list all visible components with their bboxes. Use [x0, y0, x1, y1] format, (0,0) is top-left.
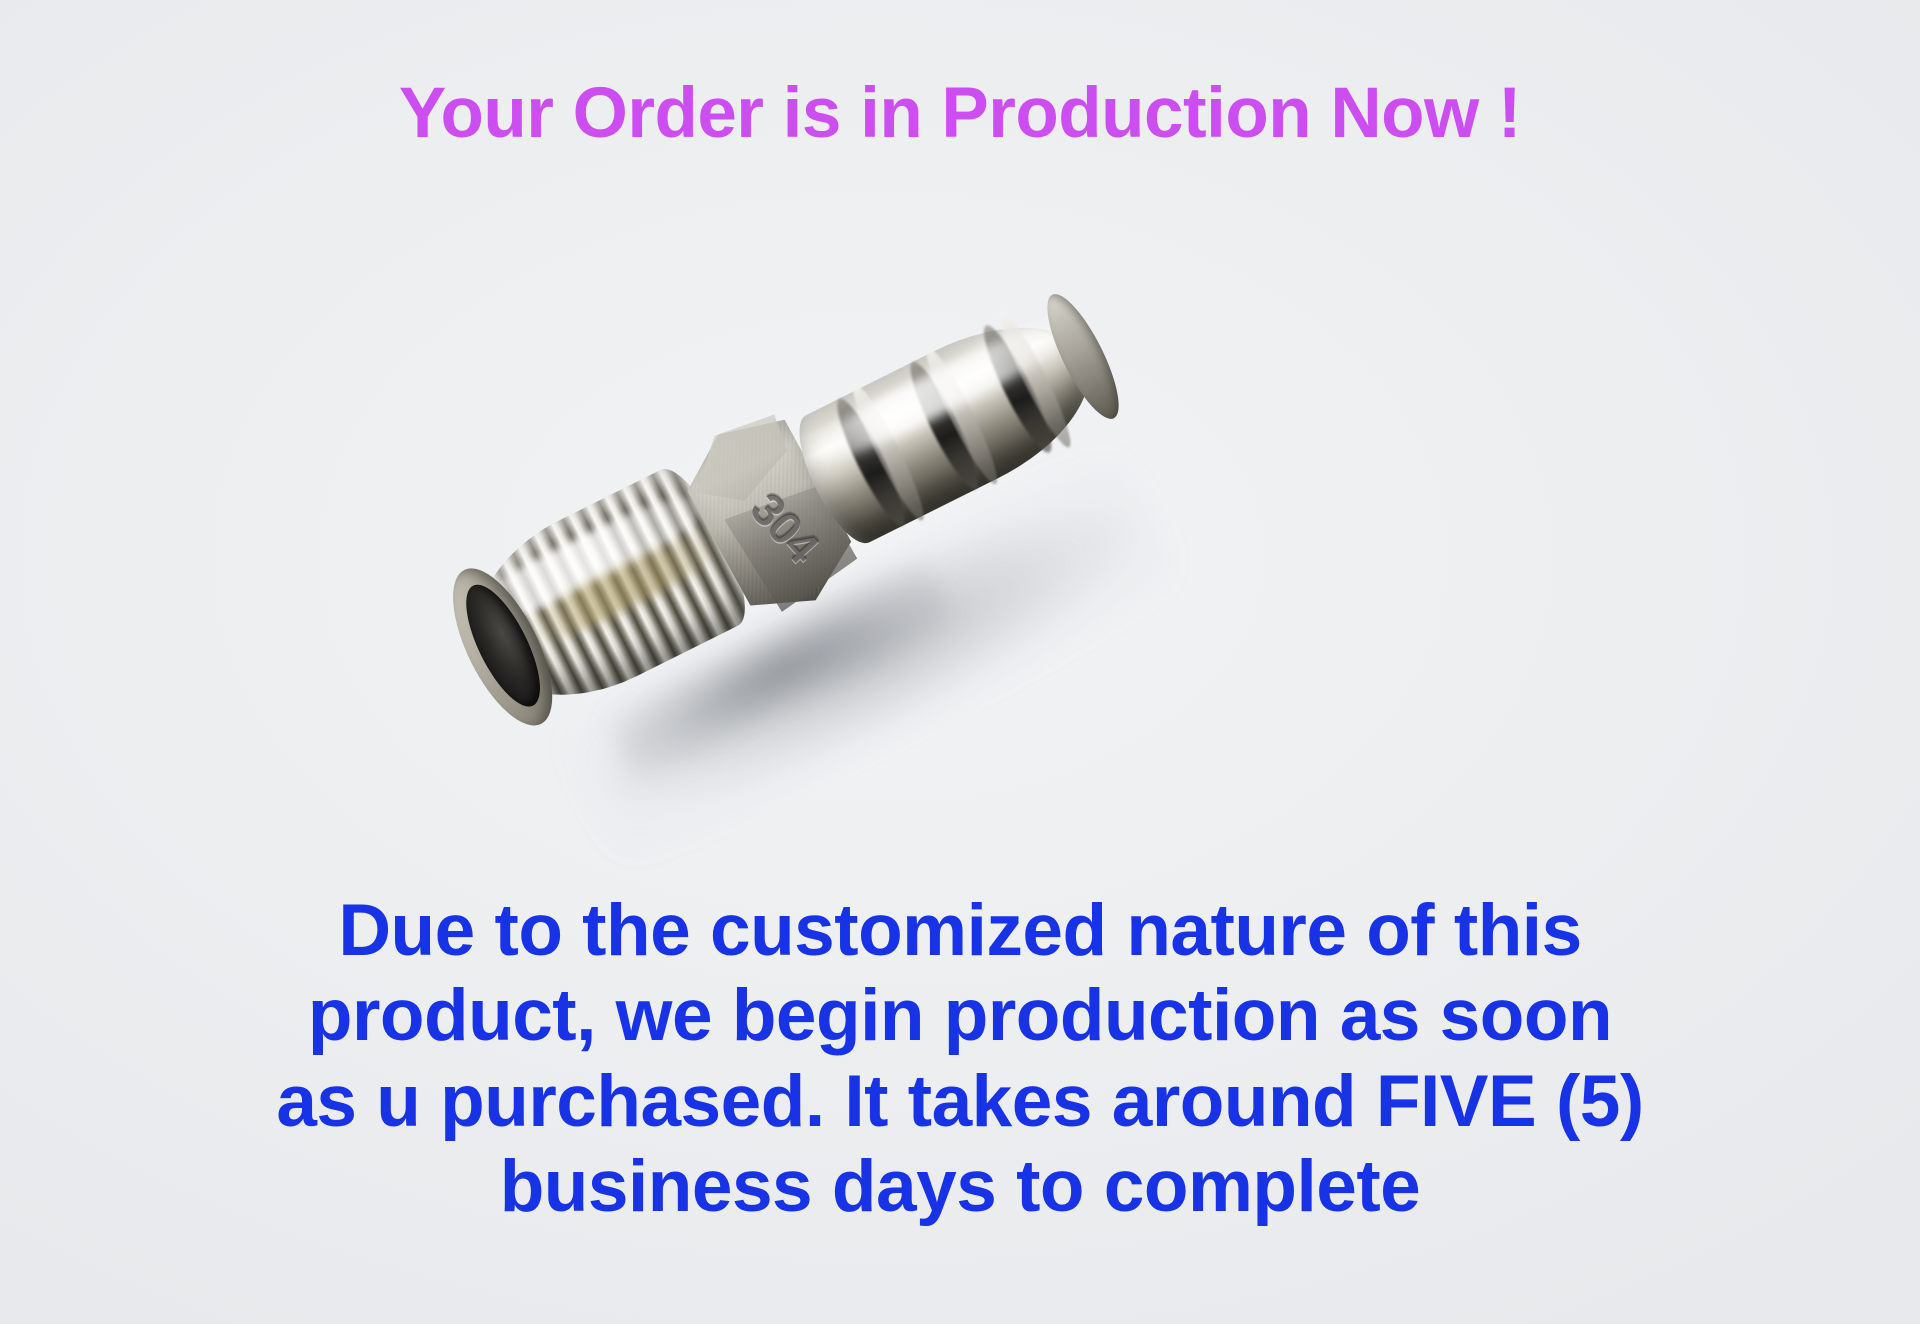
message-line-4: business days to complete	[0, 1144, 1920, 1229]
promo-banner: Your Order is in Production Now ! 304	[0, 0, 1920, 1324]
message-line-1: Due to the customized nature of this	[0, 888, 1920, 973]
headline-text: Your Order is in Production Now !	[0, 78, 1920, 150]
message-line-3: as u purchased. It takes around FIVE (5)	[0, 1059, 1920, 1144]
product-photo: 304	[0, 180, 1920, 820]
message-line-2: product, we begin production as soon	[0, 973, 1920, 1058]
production-notice-text: Due to the customized nature of this pro…	[0, 888, 1920, 1230]
